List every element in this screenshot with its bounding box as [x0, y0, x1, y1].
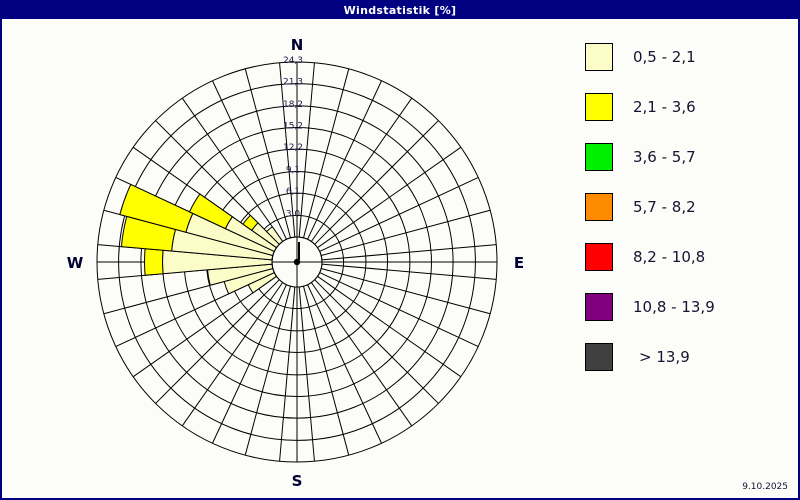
radial-tick-label: 18,2	[283, 100, 303, 110]
legend-item[interactable]: 2,1 - 3,6	[585, 82, 785, 132]
compass-label-s: S	[292, 472, 303, 490]
windrose-window: Windstatistik [%] 3,06,19,112,215,218,22…	[0, 0, 800, 500]
legend-item-label: 10,8 - 13,9	[633, 298, 715, 316]
legend-color-swatch	[585, 143, 613, 171]
radial-tick-label: 3,0	[286, 209, 301, 219]
radial-tick-label: 6,1	[286, 187, 300, 197]
legend-item[interactable]: > 13,9	[585, 332, 785, 382]
legend-item[interactable]: 8,2 - 10,8	[585, 232, 785, 282]
legend: 0,5 - 2,12,1 - 3,63,6 - 5,75,7 - 8,28,2 …	[585, 32, 785, 382]
legend-item[interactable]: 3,6 - 5,7	[585, 132, 785, 182]
legend-item[interactable]: 10,8 - 13,9	[585, 282, 785, 332]
radial-tick-label: 9,1	[286, 166, 300, 176]
legend-item-label: 5,7 - 8,2	[633, 198, 696, 216]
compass-label-e: E	[514, 254, 524, 272]
compass-label-w: W	[67, 254, 84, 272]
petal-segment	[145, 249, 164, 276]
window-title: Windstatistik [%]	[344, 4, 457, 17]
legend-item-label: 8,2 - 10,8	[633, 248, 705, 266]
date-stamp: 9.10.2025	[742, 482, 788, 492]
compass-label-n: N	[291, 36, 304, 54]
radial-tick-label: 21,3	[283, 78, 303, 88]
windrose-svg: 3,06,19,112,215,218,221,324,3NSWE	[2, 19, 567, 500]
legend-color-swatch	[585, 293, 613, 321]
legend-color-swatch	[585, 343, 613, 371]
legend-color-swatch	[585, 93, 613, 121]
legend-item[interactable]: 0,5 - 2,1	[585, 32, 785, 82]
radial-tick-label: 15,2	[283, 122, 303, 132]
radial-tick-label: 24,3	[283, 56, 303, 66]
legend-item-label: 2,1 - 3,6	[633, 98, 696, 116]
legend-item-label: 3,6 - 5,7	[633, 148, 696, 166]
radial-tick-label: 12,2	[283, 143, 303, 153]
window-title-bar: Windstatistik [%]	[2, 2, 798, 19]
legend-item-label: 0,5 - 2,1	[633, 48, 696, 66]
legend-item[interactable]: 5,7 - 8,2	[585, 182, 785, 232]
legend-color-swatch	[585, 193, 613, 221]
legend-color-swatch	[585, 243, 613, 271]
windrose-plot: 3,06,19,112,215,218,221,324,3NSWE	[2, 19, 567, 500]
legend-item-label: > 13,9	[639, 348, 690, 366]
legend-color-swatch	[585, 43, 613, 71]
